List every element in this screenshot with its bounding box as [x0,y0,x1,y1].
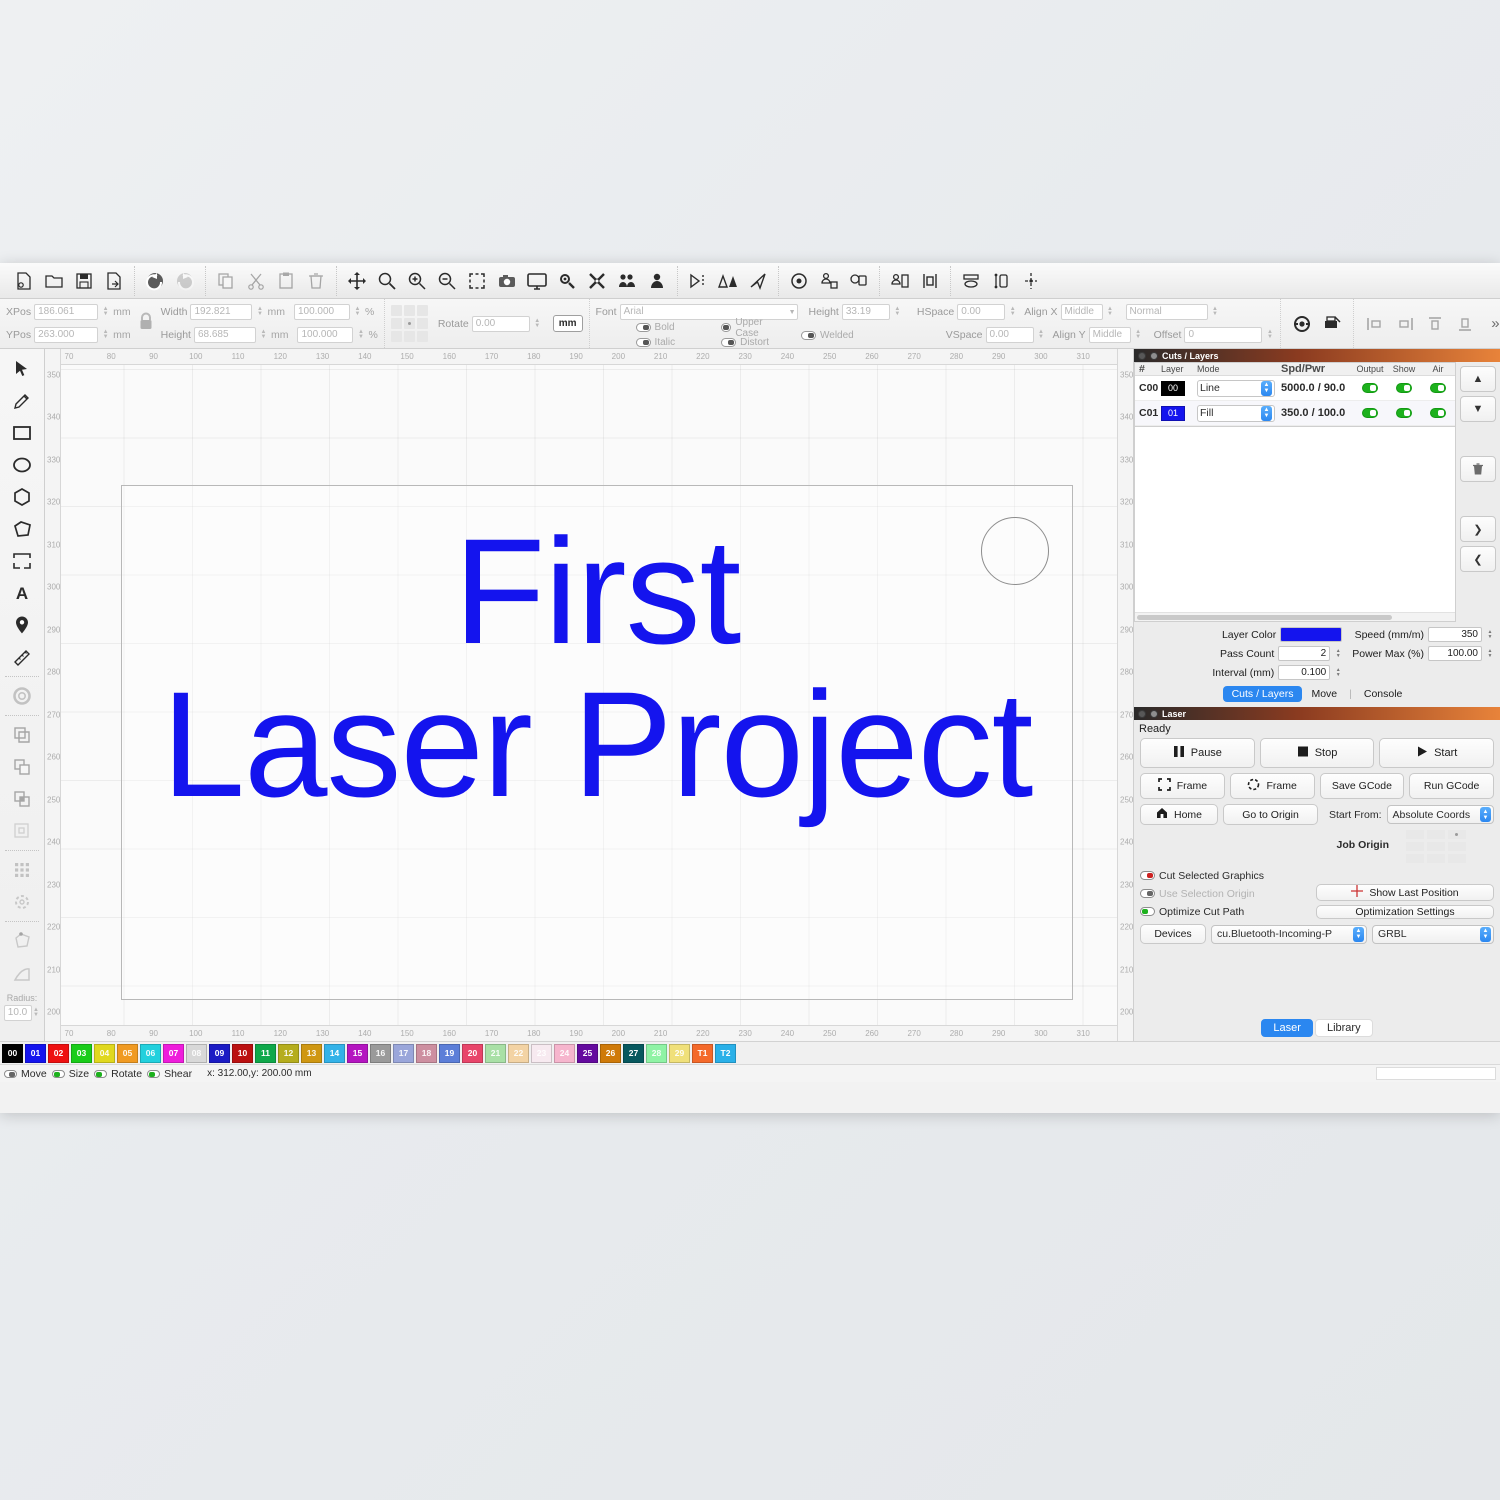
ruler-tick: 80 [107,352,116,361]
panel-float-icon[interactable] [1150,352,1158,360]
origin-cell[interactable] [1406,842,1424,851]
use-selection-origin-toggle[interactable]: Use Selection Origin [1140,886,1308,901]
xpos-input[interactable]: 186.061 [34,304,98,320]
panel-close-icon[interactable] [1138,352,1146,360]
start-from-dropdown[interactable]: Absolute Coords ▲▼ [1387,805,1494,824]
tab-library[interactable]: Library [1315,1019,1373,1037]
ruler-tick: 90 [149,352,158,361]
text-style-spinner[interactable]: ▲▼ [1211,304,1220,320]
frame-square-button[interactable]: Frame [1140,773,1225,799]
palette-swatch[interactable]: 29 [669,1044,690,1063]
palette-swatch[interactable]: 12 [278,1044,299,1063]
air-toggle[interactable] [1430,408,1446,418]
palette-swatch[interactable]: 17 [393,1044,414,1063]
spd-pwr-value: 350.0 / 100.0 [1275,407,1353,419]
toggle-switch-icon[interactable] [147,1070,160,1078]
align-y-select[interactable]: Middle [1089,327,1131,343]
palette-swatch[interactable]: 06 [140,1044,161,1063]
toggle-switch-icon[interactable] [4,1070,17,1078]
ruler-tick: 280 [950,1029,963,1038]
stepper-icon[interactable]: ▲▼ [1480,927,1491,942]
play-icon [1416,745,1428,761]
boolean-union-icon[interactable] [5,719,39,751]
chevron-down-icon[interactable]: ▼ [1460,396,1496,422]
right-panel: Cuts / Layers # Layer Mode Spd/Pwr Outpu… [1133,349,1500,1041]
width-percent-input[interactable]: 100.000 [294,304,350,320]
frame-circle-button[interactable]: Frame [1230,773,1315,799]
ruler-tick: 270 [907,352,920,361]
palette-swatch[interactable]: 23 [531,1044,552,1063]
stepper-icon[interactable]: ▲▼ [1261,381,1272,396]
distribute-h-icon[interactable] [885,266,915,296]
pass-count-input[interactable]: 2 [1278,646,1330,661]
zoom-selection-icon[interactable] [462,266,492,296]
ruler-tick: 130 [316,352,329,361]
device-dropdown[interactable]: cu.Bluetooth-Incoming-P ▲▼ [1211,925,1367,944]
export-icon[interactable] [99,266,129,296]
ruler-tick: 90 [149,1029,158,1038]
pause-label: Pause [1191,747,1222,759]
toggle-switch-icon[interactable] [1140,889,1155,898]
palette-swatch[interactable]: T2 [715,1044,736,1063]
design-canvas[interactable]: First Laser Project [61,365,1117,1025]
flip-horizontal-icon[interactable] [683,266,713,296]
ruler-tick: 220 [696,1029,709,1038]
device-settings-icon[interactable] [552,266,582,296]
group-icon[interactable] [612,266,642,296]
zoom-out-icon[interactable] [432,266,462,296]
ruler-tick: 280 [1120,668,1133,677]
ruler-tick: 130 [316,1029,329,1038]
copy-icon[interactable] [211,266,241,296]
ruler-tick: 310 [1077,1029,1090,1038]
panel-tabs: Cuts / Layers Move | Console [1140,686,1494,702]
palette-swatch[interactable]: 26 [600,1044,621,1063]
palette-swatch[interactable]: 02 [48,1044,69,1063]
ruler-tick: 100 [189,1029,202,1038]
rectangle-icon[interactable] [5,417,39,449]
ruler-tick: 330 [47,455,60,464]
anchor-cell[interactable] [417,331,428,342]
ruler-tick: 220 [47,923,60,932]
panel-close-icon[interactable] [1138,710,1146,718]
distort-toggle[interactable]: Distort [721,336,769,350]
xpos-unit: mm [113,306,131,318]
show-toggle[interactable] [1396,408,1412,418]
text-tool-icon[interactable]: A [5,577,39,609]
layer-color-swatch[interactable]: 01 [1161,406,1185,421]
align-x-select[interactable]: Middle [1061,304,1103,320]
anchor-cell[interactable] [404,331,415,342]
size-toggle[interactable]: Size [52,1066,89,1081]
palette-swatch[interactable]: 08 [186,1044,207,1063]
ruler-tick: 260 [1120,753,1133,762]
zoom-in-icon[interactable] [402,266,432,296]
ruler-tick: 290 [47,625,60,634]
toggle-switch-icon[interactable] [801,331,816,340]
camera-icon[interactable] [492,266,522,296]
upper-case-toggle[interactable]: Upper Case [721,321,769,335]
ruler-tick: 140 [358,1029,371,1038]
home-origin-row: Home Go to Origin Start From: Absolute C… [1134,804,1500,830]
output-toggle[interactable] [1362,383,1378,393]
move-toggle[interactable]: Move [4,1066,47,1081]
palette-swatch[interactable]: 22 [508,1044,529,1063]
ruler-tick: 300 [1034,1029,1047,1038]
speed-spinner[interactable]: ▲▼ [1486,627,1494,642]
pencil-draw-icon[interactable] [5,385,39,417]
row-number: C00 [1135,382,1161,394]
offset-spinner[interactable]: ▲▼ [1265,327,1274,343]
palette-swatch[interactable]: 04 [94,1044,115,1063]
col-mode: Mode [1197,364,1275,374]
grid-array-icon[interactable] [5,854,39,886]
stop-label: Stop [1315,747,1338,759]
ruler-tick: 200 [612,1029,625,1038]
ypos-unit: mm [113,329,131,341]
height-percent-spinner[interactable]: ▲▼ [356,327,365,343]
units-button[interactable]: mm [553,315,583,332]
show-toggle[interactable] [1396,383,1412,393]
palette-swatch[interactable]: 11 [255,1044,276,1063]
align-x-spinner[interactable]: ▲▼ [1106,304,1115,320]
ruler-tick: 110 [232,352,245,361]
canvas-area[interactable]: 0708090100110120130140150160170180190200… [45,349,1133,1041]
frame-square-icon [1158,778,1171,794]
vspace-spinner[interactable]: ▲▼ [1037,327,1046,343]
bounding-box-icon[interactable] [5,545,39,577]
radius-spinner[interactable]: ▲▼ [32,1005,41,1021]
stepper-icon[interactable]: ▲▼ [1261,406,1272,421]
home-button[interactable]: Home [1140,804,1218,825]
palette-swatch[interactable]: 03 [71,1044,92,1063]
circular-array-icon[interactable] [5,886,39,918]
cut-icon[interactable] [241,266,271,296]
run-gcode-button[interactable]: Run GCode [1409,773,1494,799]
closed-shape-icon[interactable] [5,513,39,545]
save-gcode-button[interactable]: Save GCode [1320,773,1405,799]
paste-icon[interactable] [271,266,301,296]
palette-swatch[interactable]: 21 [485,1044,506,1063]
toolbar-group-distribute [880,266,951,296]
laser-titlebar: Laser [1134,707,1500,720]
offset-ring-icon[interactable] [5,680,39,712]
ruler-tick: 250 [1120,795,1133,804]
palette-swatch[interactable]: 25 [577,1044,598,1063]
align-bottom-icon[interactable] [1450,309,1480,339]
origin-cell[interactable] [1448,842,1466,851]
panel-bottom-tabs: Laser Library [1134,1013,1500,1041]
ruler-tick: 300 [1120,583,1133,592]
ruler-measure-icon[interactable] [5,641,39,673]
panel-float-icon[interactable] [1150,710,1158,718]
tab-laser[interactable]: Laser [1261,1019,1313,1037]
fillet-corner-icon[interactable] [5,957,39,989]
laser-title: Laser [1162,709,1186,719]
property-toolbar: XPos 186.061 ▲▼ mm YPos 263.000 ▲▼ mm Wi… [0,299,1500,349]
layer-color-field[interactable] [1280,627,1342,642]
start-from-label: Start From: [1329,809,1382,821]
zoom-fit-icon[interactable] [372,266,402,296]
palette-swatch[interactable]: 15 [347,1044,368,1063]
cut-selected-graphics-toggle[interactable]: Cut Selected Graphics [1140,868,1308,883]
width-percent-spinner[interactable]: ▲▼ [353,304,362,320]
edit-nodes-icon[interactable] [5,925,39,957]
ruler-tick: 120 [274,1029,287,1038]
flip-vertical-icon[interactable] [713,266,743,296]
table-row[interactable]: C00 00 Line▲▼ 5000.0 / 90.0 [1135,376,1455,401]
ruler-tick: 180 [527,1029,540,1038]
interval-spinner[interactable]: ▲▼ [1334,665,1342,680]
arrange-icon[interactable] [956,266,986,296]
origin-cell[interactable] [1427,830,1445,839]
align-left-icon[interactable] [1360,309,1390,339]
power-max-input[interactable]: 100.00 [1428,646,1482,661]
tools-icon[interactable] [582,266,612,296]
palette-swatch[interactable]: 00 [2,1044,23,1063]
origin-cell-top-right[interactable] [1448,830,1466,839]
height-spinner[interactable]: ▲▼ [259,327,268,343]
palette-swatch[interactable]: 13 [301,1044,322,1063]
toolbar-divider [5,850,39,851]
toggle-switch-icon[interactable] [636,323,651,332]
width-spinner[interactable]: ▲▼ [255,304,264,320]
ruler-vertical-right: 3503403303203103002902802702602502402302… [1117,349,1133,1041]
size-fields: Width 192.821 ▲▼ mm 100.000 ▲▼ % Height … [161,302,378,345]
radius-input[interactable]: 10.0 [4,1005,32,1021]
toggle-switch-icon[interactable] [94,1070,107,1078]
italic-toggle[interactable]: Italic [636,336,676,350]
undo-icon[interactable] [140,266,170,296]
distribute-v-icon[interactable] [915,266,945,296]
toolbar-divider [5,921,39,922]
print-cut-icon[interactable] [1317,309,1347,339]
origin-cell[interactable] [1448,854,1466,863]
ruler-tick: 340 [1120,413,1133,422]
speed-label: Speed (mm/m) [1355,629,1424,641]
mode-value: Fill [1200,407,1213,419]
firmware-dropdown[interactable]: GRBL ▲▼ [1372,925,1494,944]
table-row[interactable]: C01 01 Fill▲▼ 350.0 / 100.0 [1135,401,1455,426]
show-last-position-button[interactable]: Show Last Position [1316,884,1494,901]
ruler-tick: 250 [47,795,60,804]
mode-dropdown[interactable]: Line▲▼ [1197,380,1275,397]
welded-toggle[interactable]: Welded [801,328,854,342]
devices-button[interactable]: Devices [1140,924,1206,944]
move-icon[interactable] [342,266,372,296]
save-icon[interactable] [69,266,99,296]
tab-move[interactable]: Move [1302,686,1346,702]
text-style-select[interactable]: Normal [1126,304,1208,320]
output-toggle[interactable] [1362,408,1378,418]
target-circle-icon[interactable] [1287,309,1317,339]
weld-icon[interactable] [844,266,874,296]
spd-pwr-value: 5000.0 / 90.0 [1275,382,1353,394]
chevron-left-icon[interactable]: ❮ [1460,546,1496,572]
anchor-cell[interactable] [391,318,402,329]
layer-color-swatch[interactable]: 00 [1161,381,1185,396]
align-group-icon[interactable] [814,266,844,296]
palette-swatch[interactable]: 20 [462,1044,483,1063]
chevron-up-icon[interactable]: ▲ [1460,366,1496,392]
optimization-settings-button[interactable]: Optimization Settings [1316,905,1494,919]
radius-control: Radius: 10.0 ▲▼ [4,993,41,1021]
mid-align-icon[interactable] [1016,266,1046,296]
lock-icon[interactable] [137,311,155,336]
shear-toggle[interactable]: Shear [147,1066,192,1081]
palette-swatch[interactable]: 16 [370,1044,391,1063]
font-select[interactable]: Arial [620,304,798,320]
start-button[interactable]: Start [1379,738,1494,768]
align-right-icon[interactable] [1390,309,1420,339]
text-height-input[interactable]: 33.19 [842,304,890,320]
stepper-icon[interactable]: ▲▼ [1353,927,1364,942]
monitor-icon[interactable] [522,266,552,296]
palette-swatch[interactable]: 18 [416,1044,437,1063]
anchor-selector[interactable] [391,305,428,342]
ypos-label: YPos [6,329,31,341]
chevron-down-icon[interactable]: ▼ [789,309,796,316]
ypos-spinner[interactable]: ▲▼ [101,327,110,343]
toolbar-group-history [135,266,206,296]
rotate-input[interactable]: 0.00 [472,316,530,332]
rotate-spinner[interactable]: ▲▼ [533,316,542,332]
anchor-cell[interactable] [391,331,402,342]
layer-settings: Layer Color Pass Count2▲▼ Interval (mm)0… [1134,622,1500,704]
anchor-cell[interactable] [417,318,428,329]
text-height-spinner[interactable]: ▲▼ [893,304,902,320]
align-x-label: Align X [1024,306,1057,318]
palette-swatch[interactable]: 24 [554,1044,575,1063]
layers-empty-area[interactable] [1134,427,1456,622]
stepper-icon[interactable]: ▲▼ [1480,807,1491,822]
origin-cell[interactable] [1427,842,1445,851]
palette-swatch[interactable]: 14 [324,1044,345,1063]
ungroup-icon[interactable] [642,266,672,296]
center-target-icon[interactable] [784,266,814,296]
mode-dropdown[interactable]: Fill▲▼ [1197,405,1275,422]
align-y-spinner[interactable]: ▲▼ [1134,327,1143,343]
origin-cell[interactable] [1427,854,1445,863]
polygon-icon[interactable] [5,481,39,513]
toggle-switch-icon[interactable] [1140,907,1155,916]
palette-swatch[interactable]: T1 [692,1044,713,1063]
palette-swatch[interactable]: 10 [232,1044,253,1063]
palette-swatch[interactable]: 19 [439,1044,460,1063]
new-file-icon[interactable] [9,266,39,296]
align-top-icon[interactable] [1420,309,1450,339]
offset-label: Offset [1154,329,1182,341]
origin-cell[interactable] [1406,830,1424,839]
boolean-subtract-icon[interactable] [5,751,39,783]
boolean-intersect-icon[interactable] [5,783,39,815]
hspace-input[interactable]: 0.00 [957,304,1005,320]
cursor-select-icon[interactable] [5,353,39,385]
ruler-tick: 270 [1120,710,1133,719]
tab-console[interactable]: Console [1355,686,1412,702]
rotate-toggle[interactable]: Rotate [94,1066,142,1081]
pin-location-icon[interactable] [5,609,39,641]
toggle-switch-icon[interactable] [636,338,651,347]
text-properties-group: Font Arial ▼ Height 33.19 ▲▼ HSpace 0.00… [590,299,1282,348]
toggle-switch-icon[interactable] [721,323,731,332]
palette-swatch[interactable]: 27 [623,1044,644,1063]
xpos-spinner[interactable]: ▲▼ [101,304,110,320]
palette-swatch[interactable]: 05 [117,1044,138,1063]
trash-icon[interactable] [1460,456,1496,482]
optimize-cut-path-toggle[interactable]: Optimize Cut Path [1140,904,1308,919]
anchor-cell[interactable] [404,305,415,316]
anchor-cell[interactable] [391,305,402,316]
artwork-text[interactable]: First Laser Project [121,515,1073,821]
ruler-tick: 220 [696,352,709,361]
col-spdpwr: Spd/Pwr [1275,363,1353,375]
ellipse-icon[interactable] [5,449,39,481]
frame-square-label: Frame [1177,780,1207,792]
ruler-tick: 200 [47,1008,60,1017]
vspace-input[interactable]: 0.00 [986,327,1034,343]
ruler-tick: 120 [274,352,287,361]
anchor-cell-center[interactable] [404,318,415,329]
boolean-difference-icon[interactable] [5,815,39,847]
palette-swatch[interactable]: 09 [209,1044,230,1063]
palette-swatch[interactable]: 28 [646,1044,667,1063]
go-to-origin-button[interactable]: Go to Origin [1223,804,1318,825]
ruler-tick: 200 [612,352,625,361]
tab-cuts-layers[interactable]: Cuts / Layers [1223,686,1303,702]
delete-icon[interactable] [301,266,331,296]
interval-input[interactable]: 0.100 [1278,665,1330,680]
layers-hscrollbar[interactable] [1135,612,1455,621]
palette-swatch[interactable]: 01 [25,1044,46,1063]
speed-input[interactable]: 350 [1428,627,1482,642]
height-input[interactable]: 68.685 [194,327,256,343]
node-edit-icon[interactable] [986,266,1016,296]
width-input[interactable]: 192.821 [190,304,252,320]
toolbar-group-clipboard [206,266,337,296]
ypos-input[interactable]: 263.000 [34,327,98,343]
power-max-spinner[interactable]: ▲▼ [1486,646,1494,661]
layer-color-label: Layer Color [1222,629,1276,641]
toggle-switch-icon[interactable] [1140,871,1155,880]
open-folder-icon[interactable] [39,266,69,296]
anchor-rotate-group: Rotate 0.00 ▲▼ mm [385,299,590,348]
offset-input[interactable]: 0 [1184,327,1262,343]
job-origin-selector[interactable] [1406,830,1466,863]
anchor-cell[interactable] [417,305,428,316]
bold-toggle[interactable]: Bold [636,321,676,335]
hspace-spinner[interactable]: ▲▼ [1008,304,1017,320]
toggle-switch-icon[interactable] [721,338,736,347]
height-percent-input[interactable]: 100.000 [297,327,353,343]
save-gcode-label: Save GCode [1332,780,1392,792]
redo-icon[interactable] [170,266,200,296]
toggle-switch-icon[interactable] [52,1070,65,1078]
power-max-label: Power Max (%) [1352,648,1424,660]
stop-button[interactable]: Stop [1260,738,1375,768]
pass-count-spinner[interactable]: ▲▼ [1334,646,1342,661]
pause-button[interactable]: Pause [1140,738,1255,768]
chevron-double-right-icon[interactable]: » [1480,309,1500,339]
toolbar-divider [5,676,39,677]
palette-swatch[interactable]: 07 [163,1044,184,1063]
origin-cell[interactable] [1406,854,1424,863]
job-origin-row: Job Origin [1134,830,1500,868]
rotate-icon[interactable] [743,266,773,296]
chevron-right-icon[interactable]: ❯ [1460,516,1496,542]
ruler-tick: 230 [1120,880,1133,889]
air-toggle[interactable] [1430,383,1446,393]
